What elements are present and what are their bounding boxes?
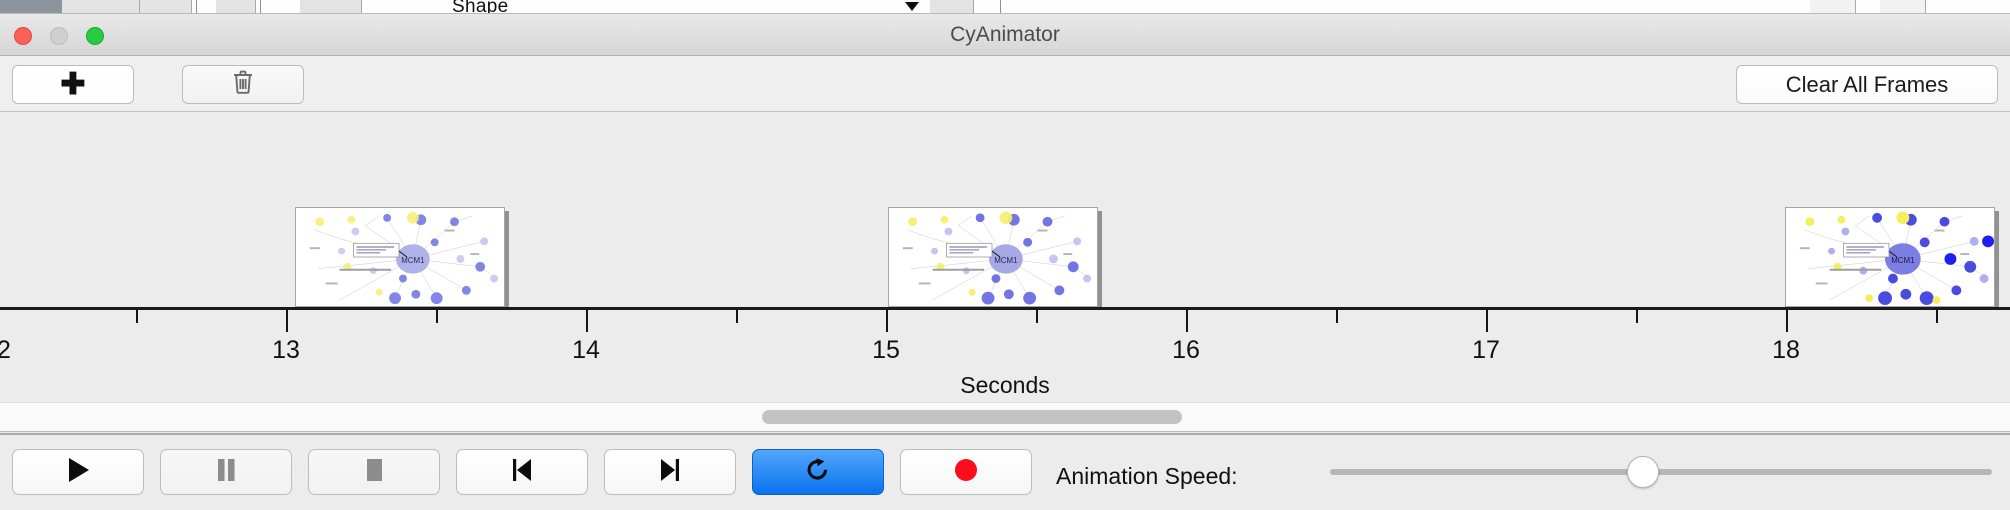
- slider-track[interactable]: [1330, 469, 1992, 475]
- skip-to-start-button[interactable]: [456, 449, 588, 495]
- svg-text:MCM1: MCM1: [401, 256, 424, 265]
- bg-window-seg: [300, 0, 362, 14]
- axis-major-tick: [586, 310, 588, 332]
- bg-window-divider: [196, 0, 197, 14]
- skip-to-end-icon: [657, 456, 683, 489]
- trash-icon: [231, 69, 255, 100]
- svg-text:MCM1: MCM1: [1891, 256, 1914, 265]
- bg-window-seg: [1880, 0, 1926, 14]
- bg-window-seg: [1810, 0, 1856, 14]
- skip-to-start-icon: [509, 456, 535, 489]
- axis-major-tick: [1486, 310, 1488, 332]
- timeline-axis: 2 13 14 15 16 17 18 Seconds: [0, 310, 2010, 402]
- timeline-frame-thumbnail[interactable]: MCM1: [888, 207, 1098, 307]
- play-icon: [65, 456, 91, 489]
- axis-tick-label: 15: [872, 336, 900, 365]
- bg-window-caret-icon: [905, 2, 919, 11]
- axis-minor-tick: [436, 310, 438, 323]
- play-button[interactable]: [12, 449, 144, 495]
- bg-window-label: Shape: [452, 0, 508, 14]
- network-graph-thumbnail: MCM1: [1786, 208, 1994, 306]
- window-titlebar: CyAnimator: [0, 14, 2010, 56]
- timeline-scrollbar[interactable]: [0, 402, 2010, 432]
- stop-button[interactable]: [308, 449, 440, 495]
- axis-tick-label: 17: [1472, 336, 1500, 365]
- axis-title: Seconds: [0, 372, 2010, 399]
- stop-icon: [362, 456, 386, 489]
- slider-thumb[interactable]: [1627, 456, 1659, 488]
- axis-minor-tick: [736, 310, 738, 323]
- bg-window-titlebar-seg: [0, 0, 62, 14]
- axis-tick-label: 14: [572, 336, 600, 365]
- delete-frame-button[interactable]: [182, 65, 304, 104]
- pause-icon: [214, 456, 238, 489]
- timeline-track[interactable]: MCM1: [0, 112, 2010, 310]
- loop-button[interactable]: [752, 449, 884, 495]
- axis-minor-tick: [136, 310, 138, 323]
- record-icon: [953, 457, 979, 488]
- animation-speed-slider[interactable]: [1330, 449, 1992, 495]
- axis-tick-label: 16: [1172, 336, 1200, 365]
- axis-major-tick: [286, 310, 288, 332]
- bg-window-seg: [930, 0, 974, 14]
- plus-icon: ✚: [60, 70, 85, 100]
- animation-speed-label: Animation Speed:: [1056, 463, 1238, 490]
- scrollbar-thumb[interactable]: [762, 410, 1182, 424]
- bg-window-seg: [62, 0, 140, 14]
- axis-tick-label: 18: [1772, 336, 1800, 365]
- bg-window-divider: [1000, 0, 1001, 14]
- timeline-frame-thumbnail[interactable]: MCM1: [1785, 207, 1995, 307]
- axis-major-tick: [886, 310, 888, 332]
- bg-window-seg: [140, 0, 192, 14]
- background-window: Shape: [0, 0, 2010, 14]
- axis-tick-label: 13: [272, 336, 300, 365]
- timeline-frame-thumbnail[interactable]: MCM1: [295, 207, 505, 307]
- loop-icon: [803, 455, 833, 490]
- axis-minor-tick: [1936, 310, 1938, 323]
- axis-minor-tick: [1636, 310, 1638, 323]
- axis-minor-tick: [1036, 310, 1038, 323]
- skip-to-end-button[interactable]: [604, 449, 736, 495]
- axis-major-tick: [1786, 310, 1788, 332]
- window-title: CyAnimator: [0, 23, 2010, 47]
- axis-minor-tick: [1336, 310, 1338, 323]
- toolbar: ✚ Clear All Frames: [0, 56, 2010, 112]
- axis-major-tick: [1186, 310, 1188, 332]
- network-graph-thumbnail: MCM1: [889, 208, 1097, 306]
- bg-window-divider: [260, 0, 261, 14]
- svg-text:MCM1: MCM1: [994, 256, 1017, 265]
- bg-window-seg: [216, 0, 256, 14]
- network-graph-thumbnail: MCM1: [296, 208, 504, 306]
- clear-all-frames-button[interactable]: Clear All Frames: [1736, 65, 1998, 104]
- playback-control-bar: Animation Speed:: [0, 433, 2010, 510]
- pause-button[interactable]: [160, 449, 292, 495]
- add-frame-button[interactable]: ✚: [12, 65, 134, 104]
- axis-tick-label: 2: [0, 336, 11, 365]
- record-button[interactable]: [900, 449, 1032, 495]
